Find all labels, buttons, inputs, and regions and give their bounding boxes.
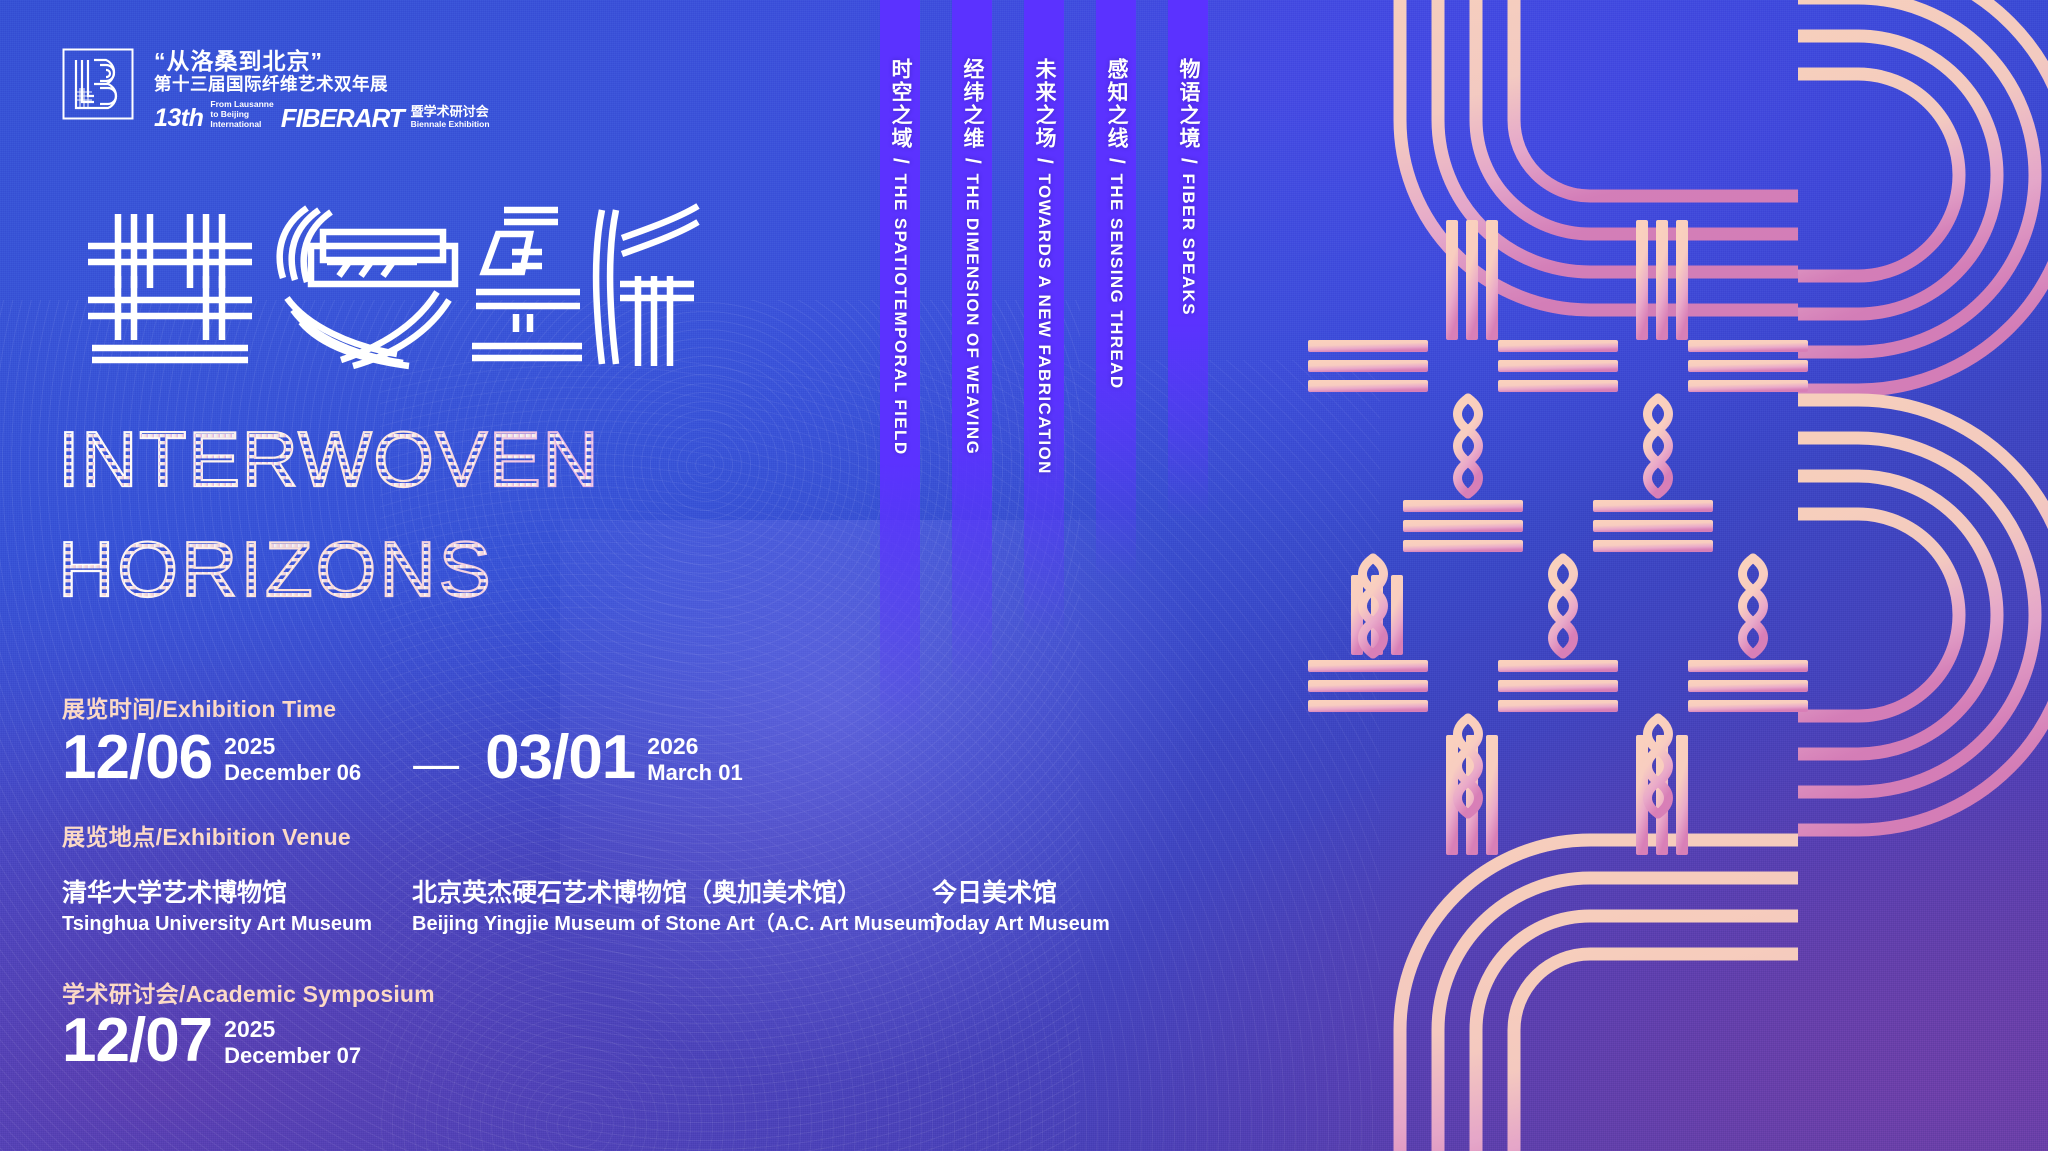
venue-1-en: Beijing Yingjie Museum of Stone Art（A.C.… bbox=[412, 911, 932, 937]
end-date-value: 03/01 bbox=[485, 728, 635, 788]
end-date-meta: 2026 March 01 bbox=[647, 728, 742, 787]
logo-wordmark: FIBERART bbox=[281, 107, 404, 131]
symposium-label-cn: 学术研讨会 bbox=[62, 981, 179, 1007]
exhibition-end-date: 03/01 2026 March 01 bbox=[485, 728, 743, 788]
section-1-cn: 经纬之维 / bbox=[961, 58, 984, 166]
exhibition-venue-label-cn: 展览地点 bbox=[62, 824, 156, 850]
section-bar-4-label: 物语之境 / FIBER SPEAKS bbox=[1168, 0, 1208, 520]
logo-bottom-row: 13th From Lausanne to Beijing Internatio… bbox=[154, 99, 490, 130]
venue-item-1[interactable]: 北京英杰硬石艺术博物馆（奥加美术馆） Beijing Yingjie Museu… bbox=[412, 878, 932, 937]
symposium-date-monthday: December 07 bbox=[224, 1042, 361, 1070]
section-1-en: THE DIMENSION OF WEAVING bbox=[963, 174, 982, 456]
section-4-cn: 物语之境 / bbox=[1177, 58, 1200, 166]
symposium-date-meta: 2025 December 07 bbox=[224, 1011, 361, 1070]
symposium-date: 12/07 2025 December 07 bbox=[62, 1011, 361, 1071]
symposium-date-value: 12/07 bbox=[62, 1011, 212, 1071]
section-bar-4[interactable]: 物语之境 / FIBER SPEAKS bbox=[1168, 0, 1208, 520]
logo-ordinal: 13th bbox=[154, 107, 203, 131]
exhibition-start-date: 12/06 2025 December 06 bbox=[62, 728, 361, 788]
logo-biennale-en: Biennale Exhibition bbox=[411, 120, 490, 130]
logo-symposium-block: 暨学术研讨会 Biennale Exhibition bbox=[411, 105, 490, 131]
start-date-meta: 2025 December 06 bbox=[224, 728, 361, 787]
logo-from-lines: From Lausanne to Beijing International bbox=[210, 99, 273, 130]
section-bar-2[interactable]: 未来之场 / TOWARDS A NEW FABRICATION bbox=[1024, 0, 1064, 640]
symposium-date-row: 12/07 2025 December 07 bbox=[62, 1011, 1562, 1071]
svg-text:HORIZONS: HORIZONS bbox=[58, 525, 494, 613]
section-4-en: FIBER SPEAKS bbox=[1179, 174, 1198, 316]
end-date-year: 2026 bbox=[647, 734, 742, 759]
logo-text-block: “从洛桑到北京” 第十三届国际纤维艺术双年展 13th From Lausann… bbox=[154, 48, 490, 130]
venue-0-cn: 清华大学艺术博物馆 bbox=[62, 878, 412, 909]
venue-item-0[interactable]: 清华大学艺术博物馆 Tsinghua University Art Museum bbox=[62, 878, 412, 937]
start-date-monthday: December 06 bbox=[224, 759, 361, 787]
exhibition-time-section: 展览时间/Exhibition Time 12/06 2025 December… bbox=[62, 690, 1562, 788]
symposium-label: 学术研讨会/Academic Symposium bbox=[62, 975, 1562, 1009]
venue-1-cn: 北京英杰硬石艺术博物馆（奥加美术馆） bbox=[412, 878, 932, 909]
venue-0-en: Tsinghua University Art Museum bbox=[62, 911, 412, 937]
exhibition-date-range: 12/06 2025 December 06 — 03/01 2026 Marc… bbox=[62, 728, 1562, 788]
logo-symposium-cn: 暨学术研讨会 bbox=[411, 105, 490, 120]
section-0-cn: 时空之域 / bbox=[889, 58, 912, 166]
academic-symposium-section: 学术研讨会/Academic Symposium 12/07 2025 Dece… bbox=[62, 975, 1562, 1071]
symposium-label-en: Academic Symposium bbox=[186, 981, 435, 1007]
venue-2-cn: 今日美术馆 bbox=[932, 878, 1110, 909]
start-date-value: 12/06 bbox=[62, 728, 212, 788]
venue-2-en: Today Art Museum bbox=[932, 911, 1110, 937]
logo-subtitle-cn: 第十三届国际纤维艺术双年展 bbox=[154, 75, 490, 94]
exhibition-venue-label-en: Exhibition Venue bbox=[162, 824, 351, 850]
exhibition-time-label: 展览时间/Exhibition Time bbox=[62, 690, 1562, 724]
date-range-separator: — bbox=[413, 740, 459, 786]
biennale-monogram-icon bbox=[62, 48, 134, 120]
exhibition-time-label-cn: 展览时间 bbox=[62, 696, 156, 722]
poster-canvas: “从洛桑到北京” 第十三届国际纤维艺术双年展 13th From Lausann… bbox=[0, 0, 2048, 1151]
logo-quote-cn: “从洛桑到北京” bbox=[154, 49, 490, 73]
event-info-block: 展览时间/Exhibition Time 12/06 2025 December… bbox=[62, 690, 1562, 1070]
section-3-cn: 感知之线 / bbox=[1105, 58, 1128, 166]
exhibition-venue-section: 展览地点/Exhibition Venue 清华大学艺术博物馆 Tsinghua… bbox=[62, 818, 1562, 937]
section-2-en: TOWARDS A NEW FABRICATION bbox=[1035, 174, 1054, 475]
start-date-year: 2025 bbox=[224, 734, 361, 759]
svg-text:INTERWOVEN: INTERWOVEN bbox=[58, 415, 600, 503]
symposium-date-year: 2025 bbox=[224, 1017, 361, 1042]
section-0-en: THE SPATIOTEMPORAL FIELD bbox=[891, 174, 910, 456]
section-bar-1[interactable]: 经纬之维 / THE DIMENSION OF WEAVING bbox=[952, 0, 992, 690]
main-title-cn bbox=[62, 188, 702, 348]
section-bar-0-label: 时空之域 / THE SPATIOTEMPORAL FIELD bbox=[880, 0, 920, 745]
section-2-cn: 未来之场 / bbox=[1033, 58, 1056, 166]
logo-from-line2: to Beijing bbox=[210, 109, 273, 119]
section-bar-1-label: 经纬之维 / THE DIMENSION OF WEAVING bbox=[952, 0, 992, 690]
main-title-en-line2: HORIZONS HORIZONS bbox=[58, 530, 528, 612]
event-logo: “从洛桑到北京” 第十三届国际纤维艺术双年展 13th From Lausann… bbox=[62, 48, 490, 130]
section-bar-3[interactable]: 感知之线 / THE SENSING THREAD bbox=[1096, 0, 1136, 580]
logo-from-line1: From Lausanne bbox=[210, 99, 273, 109]
end-date-monthday: March 01 bbox=[647, 759, 742, 787]
section-bar-2-label: 未来之场 / TOWARDS A NEW FABRICATION bbox=[1024, 0, 1064, 640]
symposium-label-sep: / bbox=[179, 981, 186, 1007]
venue-item-2[interactable]: 今日美术馆 Today Art Museum bbox=[932, 878, 1110, 937]
main-title-en-line1: INTERWOVEN INTERWOVEN bbox=[58, 420, 658, 502]
logo-from-line3: International bbox=[210, 119, 273, 129]
section-bar-3-label: 感知之线 / THE SENSING THREAD bbox=[1096, 0, 1136, 580]
exhibition-venue-label: 展览地点/Exhibition Venue bbox=[62, 818, 1562, 852]
exhibition-time-label-en: Exhibition Time bbox=[162, 696, 336, 722]
venue-list: 清华大学艺术博物馆 Tsinghua University Art Museum… bbox=[62, 878, 1562, 937]
section-3-en: THE SENSING THREAD bbox=[1107, 174, 1126, 390]
section-bar-0[interactable]: 时空之域 / THE SPATIOTEMPORAL FIELD bbox=[880, 0, 920, 745]
